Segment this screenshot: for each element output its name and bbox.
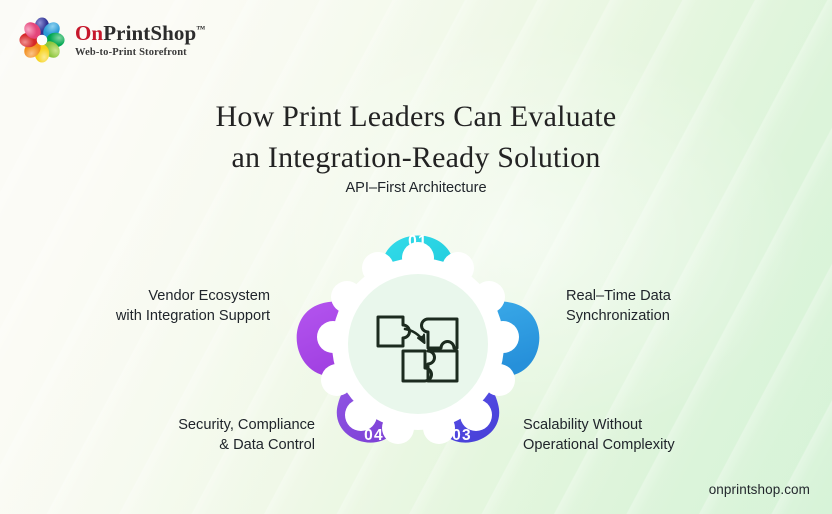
trademark-symbol: ™ [196, 24, 205, 34]
five-petal-wheel-diagram: 01 02 03 04 [272, 196, 564, 476]
scalloped-ring [317, 242, 519, 444]
page-title-line-1: How Print Leaders Can Evaluate [0, 96, 832, 137]
petal-05-label: Vendor Ecosystem with Integration Suppor… [116, 286, 270, 326]
petal-02-label: Real–Time Data Synchronization [566, 286, 671, 326]
petal-03-label: Scalability Without Operational Complexi… [523, 415, 675, 455]
brand-name-prefix: On [75, 21, 103, 45]
petal-04-label: Security, Compliance & Data Control [178, 415, 315, 455]
petal-03-number: 03 [452, 427, 472, 444]
footer-website-url[interactable]: onprintshop.com [709, 482, 810, 497]
brand-logo[interactable]: OnPrintShop™ Web-to-Print Storefront [18, 16, 205, 64]
brand-name: OnPrintShop™ [75, 23, 205, 44]
wheel-svg: 01 02 03 04 [272, 196, 564, 476]
brand-tagline: Web-to-Print Storefront [75, 48, 205, 59]
page-title-line-2: an Integration-Ready Solution [0, 137, 832, 178]
brand-name-rest: PrintShop [103, 21, 196, 45]
page-title: How Print Leaders Can Evaluate an Integr… [0, 96, 832, 179]
brand-text: OnPrintShop™ Web-to-Print Storefront [75, 21, 205, 59]
infographic-canvas: OnPrintShop™ Web-to-Print Storefront How… [0, 0, 832, 514]
flower-petals-logo-icon [18, 16, 66, 64]
petal-01-label: API–First Architecture [0, 178, 832, 198]
